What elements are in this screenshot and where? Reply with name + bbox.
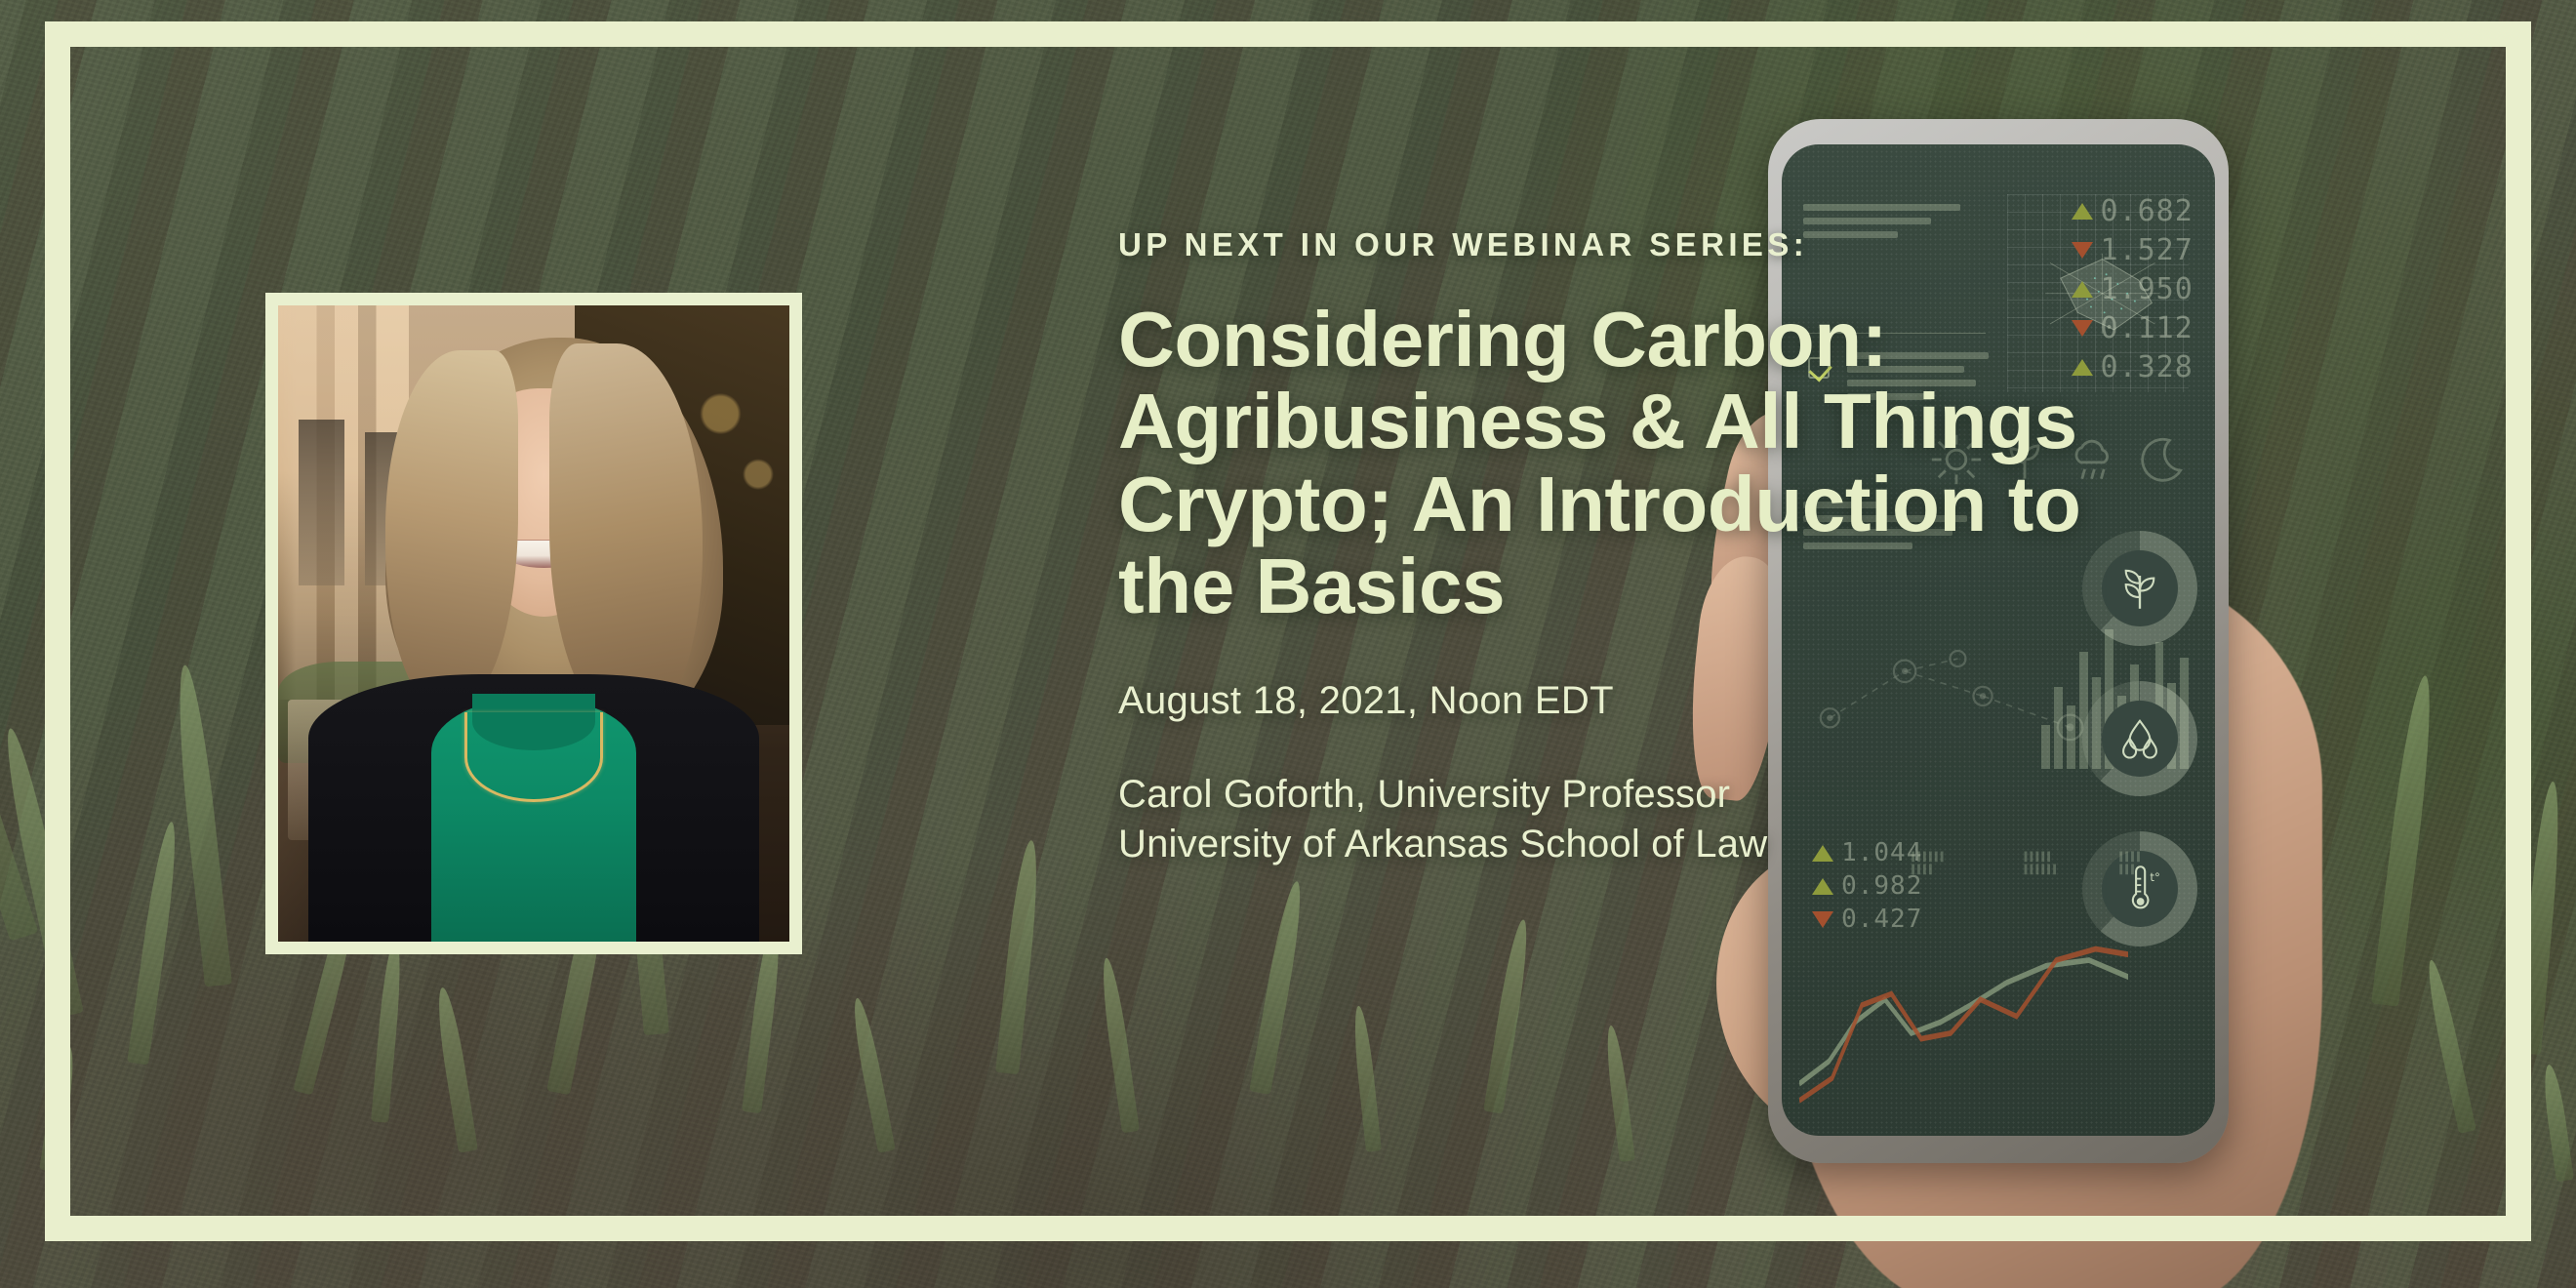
portrait-gold-necklace [464,712,602,801]
crop-blade [2540,1064,2574,1182]
page-title-line-2: Agribusiness & All Things [1118,381,2416,463]
triangle-up-icon [1812,878,1833,895]
crop-blade [1350,1005,1382,1152]
metric-value: 0.682 [2101,194,2194,228]
page-title-line-3: Crypto; An Introduction to [1118,463,2416,545]
metric-value: 0.982 [1841,871,1922,901]
page-title-line-4: the Basics [1118,545,2416,627]
speaker-portrait-frame [265,293,802,954]
page-title: Considering Carbon:Agribusiness & All Th… [1118,299,2416,628]
crop-blade [172,664,232,986]
page-title-line-1: Considering Carbon: [1118,299,2416,381]
promo-copy-block: UP NEXT IN OUR WEBINAR SERIES: Consideri… [1118,226,2416,869]
crop-blade [995,839,1043,1074]
crop-blade [371,937,404,1123]
metric-value: 0.427 [1841,905,1922,934]
speaker-affiliation: University of Arkansas School of Law [1118,820,2416,869]
crop-blade [1098,956,1140,1133]
eyebrow-label: UP NEXT IN OUR WEBINAR SERIES: [1118,226,2416,263]
svg-text:t°: t° [2151,870,2160,884]
crop-blade [39,1044,78,1173]
metric-readout: 0.682 [2072,194,2194,228]
crop-blade [2517,781,2564,1055]
metric-readout: 0.427 [1812,905,1922,934]
crop-blade [849,996,896,1152]
triangle-down-icon [1812,911,1833,928]
speaker-portrait-photo [278,305,789,942]
metric-readout: 0.982 [1812,871,1922,901]
triangle-up-icon [2072,203,2093,220]
crop-blade [1483,918,1533,1114]
portrait-window [299,420,344,585]
speaker-credentials: Carol Goforth, University Professor Univ… [1118,770,2416,869]
crop-blade [433,986,478,1153]
crop-blade [127,821,182,1066]
event-datetime: August 18, 2021, Noon EDT [1118,679,2416,723]
line-chart [1799,938,2128,1107]
thermometer-icon: t° [2114,864,2165,914]
crop-blade [1249,879,1308,1094]
speaker-name: Carol Goforth, University Professor [1118,770,2416,820]
